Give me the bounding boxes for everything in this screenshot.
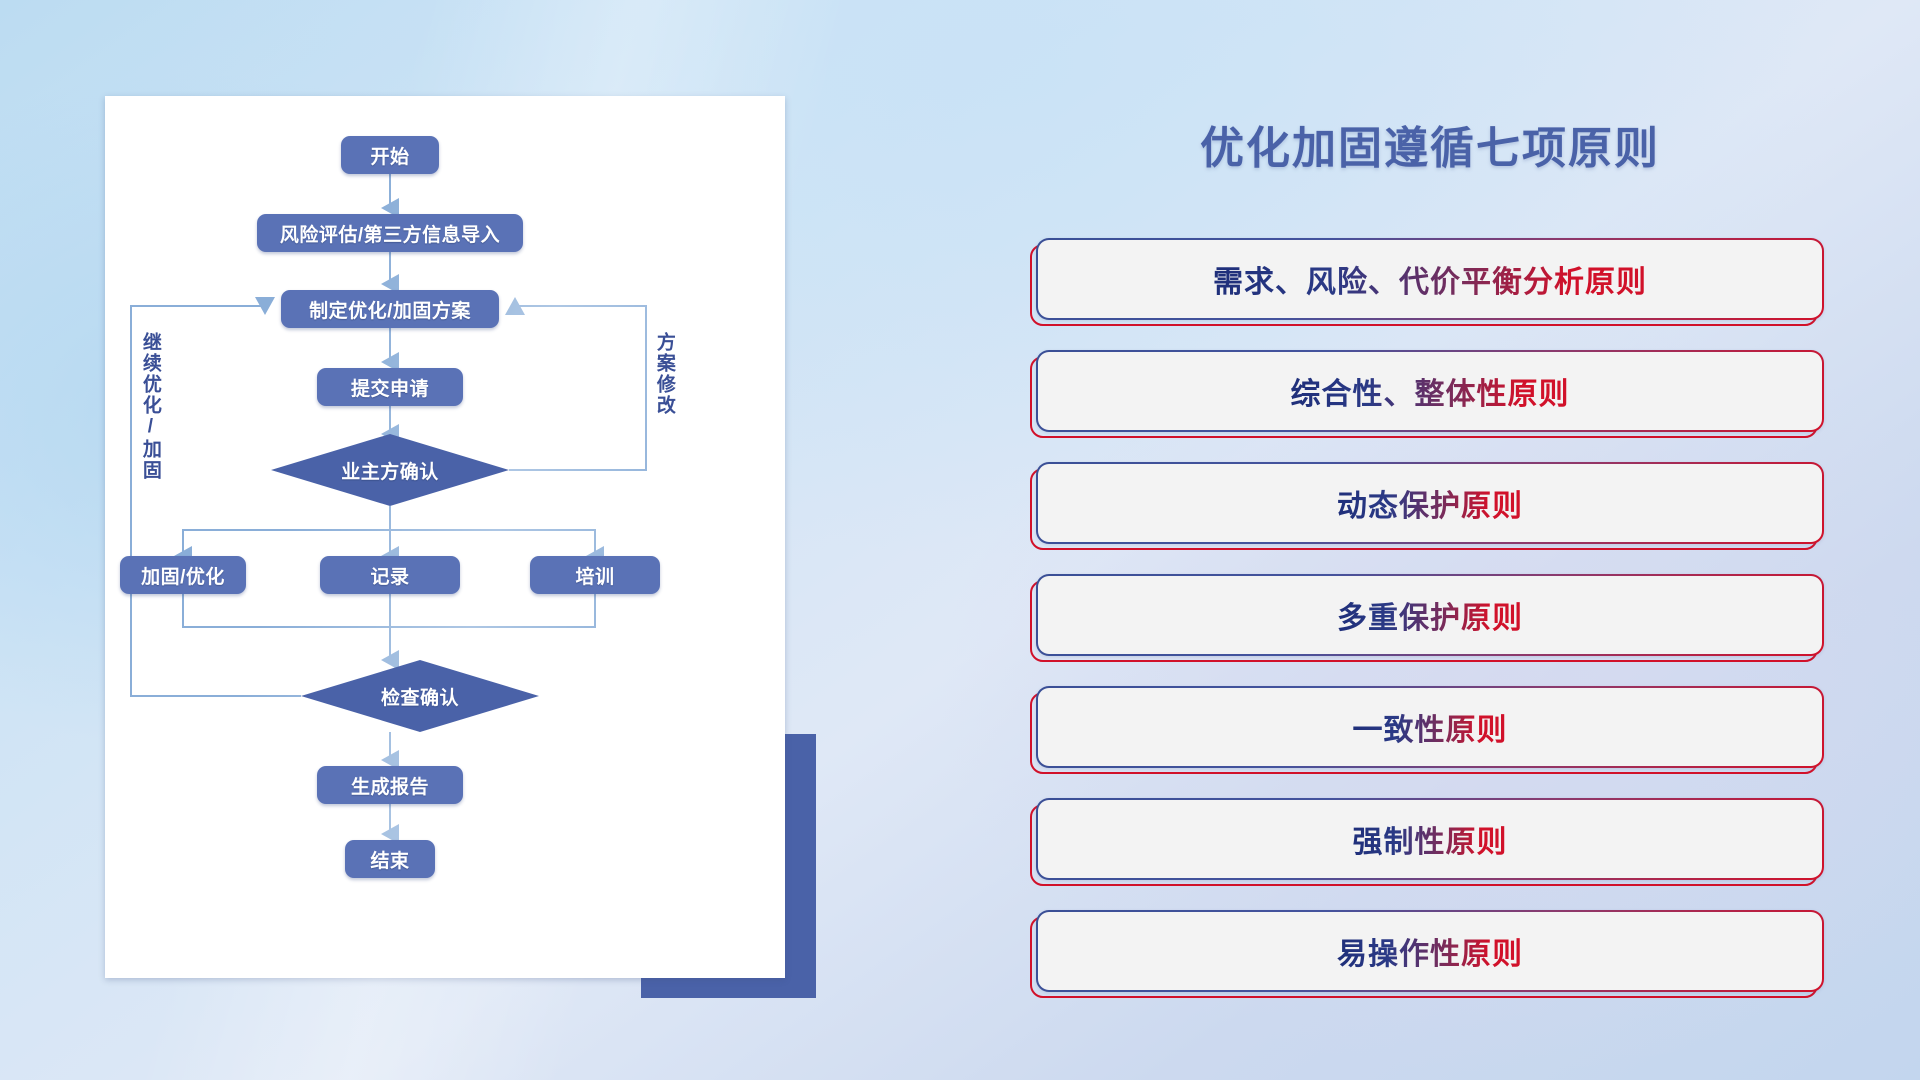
principle-item[interactable]: 强制性原则	[1030, 798, 1830, 886]
principle-card[interactable]: 易操作性原则	[1036, 910, 1824, 992]
flow-node-submit-application[interactable]: 提交申请	[317, 368, 463, 406]
principle-list: 需求、风险、代价平衡分析原则 综合性、整体性原则 动态保护原则 多重保护原则 一	[1030, 238, 1830, 1022]
principle-card[interactable]: 多重保护原则	[1036, 574, 1824, 656]
principle-label: 需求、风险、代价平衡分析原则	[1213, 257, 1647, 301]
slide-root: 开始 风险评估/第三方信息导入 制定优化/加固方案 提交申请 业主方确认 加固/…	[0, 0, 1920, 1080]
flowchart: 开始 风险评估/第三方信息导入 制定优化/加固方案 提交申请 业主方确认 加固/…	[105, 96, 785, 978]
principle-label: 多重保护原则	[1337, 593, 1523, 637]
principle-label: 强制性原则	[1353, 817, 1508, 861]
flow-node-end-label: 结束	[370, 846, 409, 873]
principle-card[interactable]: 综合性、整体性原则	[1036, 350, 1824, 432]
principle-card[interactable]: 需求、风险、代价平衡分析原则	[1036, 238, 1824, 320]
flow-node-generate-report[interactable]: 生成报告	[317, 766, 463, 804]
flow-node-training-label: 培训	[575, 562, 614, 589]
edge-label-right-loop: 方案修改	[653, 332, 674, 416]
principle-card[interactable]: 强制性原则	[1036, 798, 1824, 880]
flow-node-reinforce-optimize[interactable]: 加固/优化	[120, 556, 246, 594]
principle-item[interactable]: 需求、风险、代价平衡分析原则	[1030, 238, 1830, 326]
principle-item[interactable]: 易操作性原则	[1030, 910, 1830, 998]
principle-card[interactable]: 动态保护原则	[1036, 462, 1824, 544]
principle-item[interactable]: 一致性原则	[1030, 686, 1830, 774]
principle-item[interactable]: 动态保护原则	[1030, 462, 1830, 550]
flow-node-owner-confirm-label: 业主方确认	[341, 457, 439, 484]
principle-label: 易操作性原则	[1337, 929, 1523, 973]
principle-label: 动态保护原则	[1337, 481, 1523, 525]
flow-node-generate-report-label: 生成报告	[351, 772, 429, 799]
flow-node-make-plan-label: 制定优化/加固方案	[309, 296, 471, 323]
flow-node-reinforce-optimize-label: 加固/优化	[141, 562, 225, 589]
principle-item[interactable]: 多重保护原则	[1030, 574, 1830, 662]
flow-node-make-plan[interactable]: 制定优化/加固方案	[281, 290, 499, 328]
flow-node-start[interactable]: 开始	[341, 136, 439, 174]
principle-label: 综合性、整体性原则	[1291, 369, 1570, 413]
flow-node-start-label: 开始	[370, 142, 409, 169]
flow-node-check-confirm-label: 检查确认	[381, 683, 459, 710]
flow-node-risk-assessment-label: 风险评估/第三方信息导入	[280, 220, 500, 247]
principle-card[interactable]: 一致性原则	[1036, 686, 1824, 768]
flow-node-record-label: 记录	[370, 562, 409, 589]
principle-item[interactable]: 综合性、整体性原则	[1030, 350, 1830, 438]
edge-label-left-loop: 继续优化/加固	[139, 332, 160, 481]
flowchart-panel: 开始 风险评估/第三方信息导入 制定优化/加固方案 提交申请 业主方确认 加固/…	[105, 96, 785, 978]
flow-node-record[interactable]: 记录	[320, 556, 460, 594]
flow-node-submit-application-label: 提交申请	[351, 374, 429, 401]
flow-node-check-confirm[interactable]: 检查确认	[301, 660, 539, 732]
page-title: 优化加固遵循七项原则	[1030, 112, 1830, 176]
flow-node-end[interactable]: 结束	[345, 840, 435, 878]
flow-node-training[interactable]: 培训	[530, 556, 660, 594]
flow-node-owner-confirm[interactable]: 业主方确认	[271, 434, 509, 506]
flow-node-risk-assessment[interactable]: 风险评估/第三方信息导入	[257, 214, 523, 252]
principle-label: 一致性原则	[1353, 705, 1508, 749]
